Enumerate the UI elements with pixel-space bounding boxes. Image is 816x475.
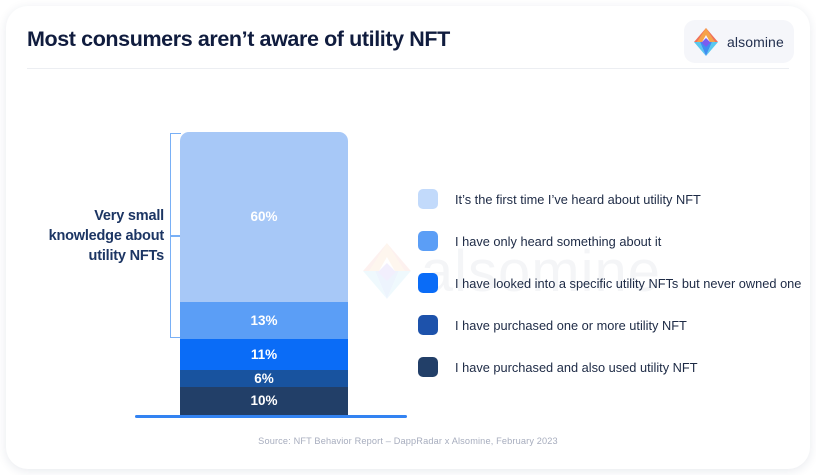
- legend-label: I have purchased and also used utility N…: [455, 360, 698, 375]
- stacked-bar: 60% 13% 11% 6% 10%: [180, 132, 348, 415]
- source-note: Source: NFT Behavior Report – DappRadar …: [6, 436, 810, 446]
- legend-swatch-icon: [418, 189, 438, 209]
- bar-segment-1[interactable]: 60%: [180, 132, 348, 302]
- bar-segment-5[interactable]: 10%: [180, 387, 348, 415]
- legend-swatch-icon: [418, 315, 438, 335]
- chart-card: Most consumers aren’t aware of utility N…: [6, 6, 810, 469]
- legend-item[interactable]: It’s the first time I’ve heard about uti…: [418, 178, 801, 220]
- legend-swatch-icon: [418, 231, 438, 251]
- annotation-line-2: knowledge about: [16, 226, 164, 246]
- legend-label: It’s the first time I’ve heard about uti…: [455, 192, 701, 207]
- bar-segment-3[interactable]: 11%: [180, 339, 348, 370]
- legend-label: I have purchased one or more utility NFT: [455, 318, 687, 333]
- bar-segment-4[interactable]: 6%: [180, 370, 348, 387]
- legend-label: I have looked into a specific utility NF…: [455, 276, 801, 291]
- legend-swatch-icon: [418, 357, 438, 377]
- legend-item[interactable]: I have purchased and also used utility N…: [418, 346, 801, 388]
- bar-segment-2[interactable]: 13%: [180, 302, 348, 339]
- legend-label: I have only heard something about it: [455, 234, 661, 249]
- bracket-annotation: Very small knowledge about utility NFTs: [16, 206, 164, 266]
- legend-item[interactable]: I have only heard something about it: [418, 220, 801, 262]
- legend-item[interactable]: I have looked into a specific utility NF…: [418, 262, 801, 304]
- annotation-line-3: utility NFTs: [16, 246, 164, 266]
- legend-item[interactable]: I have purchased one or more utility NFT: [418, 304, 801, 346]
- axis-baseline: [135, 415, 407, 418]
- legend: It’s the first time I’ve heard about uti…: [418, 178, 801, 388]
- annotation-line-1: Very small: [16, 206, 164, 226]
- legend-swatch-icon: [418, 273, 438, 293]
- plot-area: Very small knowledge about utility NFTs …: [6, 6, 810, 469]
